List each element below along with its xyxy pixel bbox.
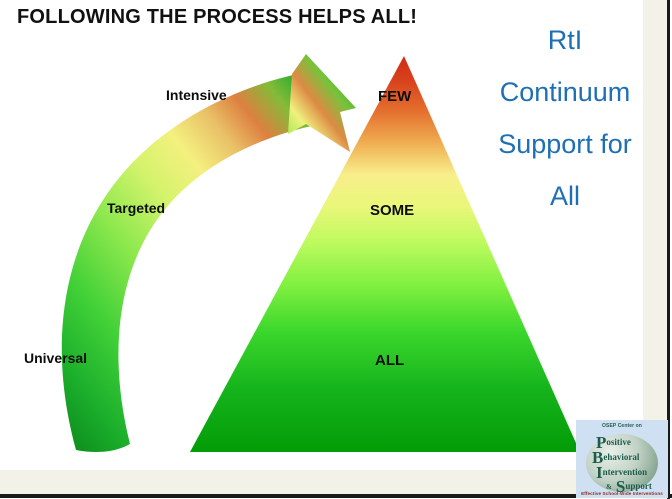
arrow-label-intensive: Intensive [166,87,227,103]
logo-cap-i: I [596,463,603,482]
logo-rest-support: upport [625,481,652,491]
arrow-label-targeted: Targeted [107,200,165,216]
logo-rest-behavioral: ehavioral [603,452,639,462]
slide-canvas: FOLLOWING THE PROCESS HELPS ALL! RtI Con… [0,0,672,499]
bottom-edge-panel [0,470,668,497]
bottom-border-line [0,494,672,498]
logo-tagline: Effective School-Wide Interventions [576,491,668,496]
logo-ampersand: & [606,483,612,491]
page-title: FOLLOWING THE PROCESS HELPS ALL! [17,6,417,29]
arrow-label-universal: Universal [24,350,87,366]
logo-rest-positive: ositive [606,437,631,447]
pbis-logo: OSEP Center on Positive Behavioral Inter… [576,420,668,498]
arrow-head [288,54,356,152]
curved-progress-arrow [20,48,400,458]
logo-org-line: OSEP Center on [576,423,668,429]
